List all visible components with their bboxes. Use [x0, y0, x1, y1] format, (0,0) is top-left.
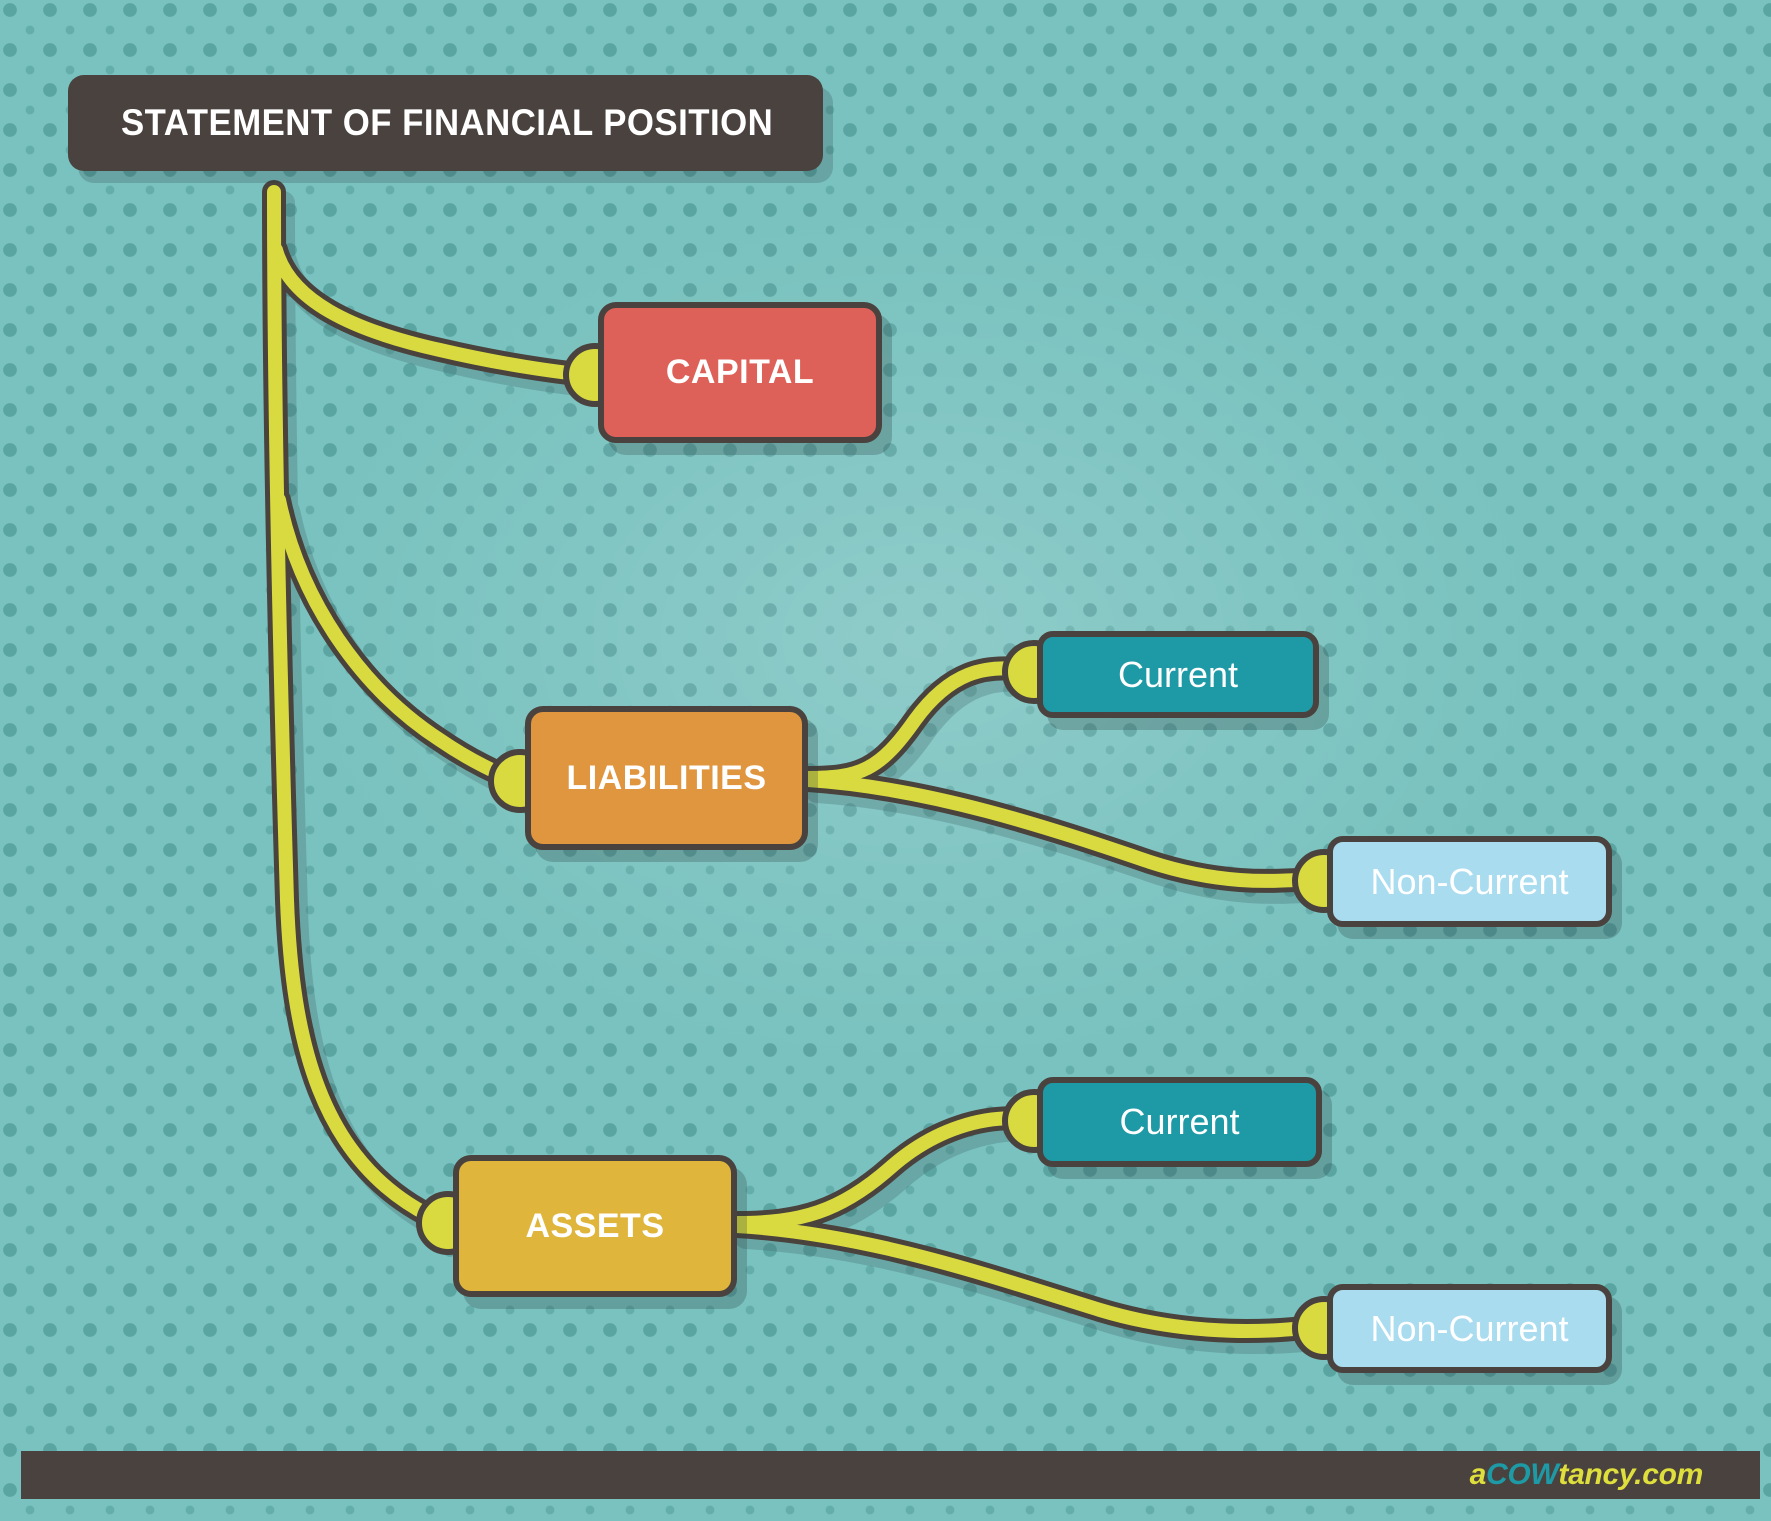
- leaf-node-liabilities-current[interactable]: Current: [1037, 631, 1319, 718]
- brand-part-tancy: tancy.com: [1558, 1458, 1703, 1491]
- connector-root-to-liabilities: [279, 500, 514, 780]
- leaf-node-assets-noncurrent[interactable]: Non-Current: [1327, 1284, 1612, 1373]
- leaf-node-assets-current[interactable]: Current: [1037, 1077, 1322, 1167]
- leaf-label-liabilities-current: Current: [1118, 654, 1238, 696]
- leaf-label-liabilities-noncurrent: Non-Current: [1370, 861, 1568, 903]
- branch-label-capital: CAPITAL: [666, 353, 814, 392]
- branch-node-assets[interactable]: ASSETS: [453, 1155, 737, 1297]
- branch-node-liabilities[interactable]: LIABILITIES: [525, 706, 808, 850]
- brand-part-cow: COW: [1486, 1458, 1558, 1491]
- brand-part-a: a: [1470, 1458, 1486, 1491]
- leaf-label-assets-current: Current: [1119, 1101, 1239, 1143]
- leaf-node-liabilities-noncurrent[interactable]: Non-Current: [1327, 836, 1612, 927]
- footer-bar: aCOWtancy.com: [21, 1451, 1760, 1499]
- branch-label-assets: ASSETS: [525, 1207, 664, 1246]
- branch-node-capital[interactable]: CAPITAL: [598, 302, 882, 443]
- leaf-label-assets-noncurrent: Non-Current: [1370, 1308, 1568, 1350]
- mindmap-canvas: STATEMENT OF FINANCIAL POSITION CAPITAL …: [0, 0, 1771, 1521]
- root-title-box[interactable]: STATEMENT OF FINANCIAL POSITION: [68, 75, 823, 171]
- brand-logo[interactable]: aCOWtancy.com: [1470, 1458, 1703, 1492]
- branch-label-liabilities: LIABILITIES: [566, 759, 766, 798]
- page-title: STATEMENT OF FINANCIAL POSITION: [121, 102, 773, 144]
